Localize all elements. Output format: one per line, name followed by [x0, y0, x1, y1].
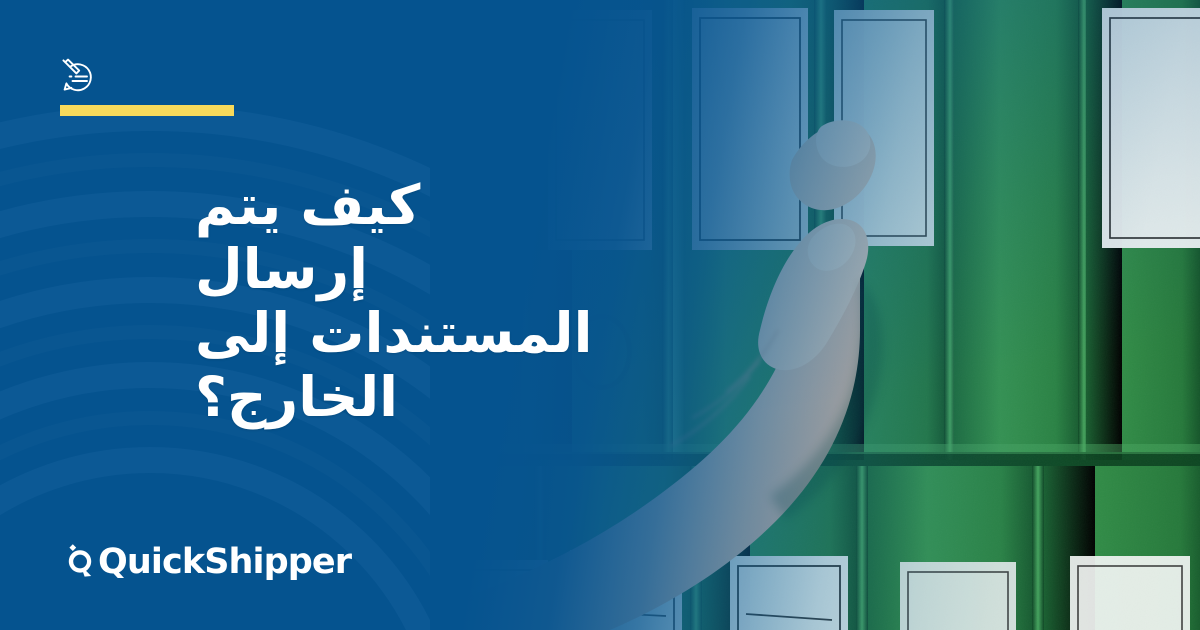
accent-bar	[60, 105, 234, 116]
quickshipper-q-mark-icon	[60, 542, 100, 582]
blog-banner: مدونة سريعة كيف يتم إرسال المستندات إلى …	[0, 0, 1200, 630]
blog-post-speech-bubble-pen-icon	[58, 57, 98, 97]
quickshipper-logo[interactable]: QuickShipper	[60, 541, 351, 583]
page-title: كيف يتم إرسال المستندات إلى الخارج؟	[195, 173, 595, 429]
eyebrow-row: مدونة سريعة	[0, 0, 430, 120]
logo-wordmark: QuickShipper	[98, 542, 351, 582]
